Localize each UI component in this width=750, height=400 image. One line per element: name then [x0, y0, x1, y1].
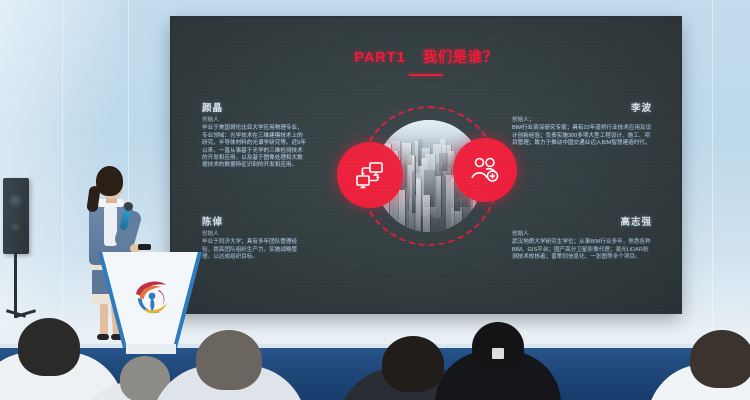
- audience-head: [196, 330, 262, 390]
- presenter-hair: [96, 166, 123, 196]
- presentation-clicker: [138, 244, 151, 250]
- podium: [98, 252, 202, 348]
- bio-body: 武汉地质大学研究生学位；从事BIM行业多年，熟悉各种BIM、GIS平台；国产高分…: [512, 239, 652, 261]
- bio-body: 毕业于美国哥伦比亚大学应用物理专业，专业领域：光学技术在三维建模技术上的研究，半…: [202, 125, 306, 169]
- screenshot-stage: PART1 我们是谁？ 颜晶 创始人 毕业于美国哥伦比亚大学应用物理专业，专业领…: [0, 0, 750, 400]
- bio-role: 创始人: [202, 231, 306, 238]
- bio-role: 创始人: [202, 117, 306, 124]
- slide-title: PART1 我们是谁？: [172, 46, 680, 67]
- stage-loudspeaker: [3, 178, 29, 254]
- cap-logo: [492, 348, 504, 359]
- wall-seam: [712, 0, 713, 330]
- add-user-group-icon: [470, 157, 500, 183]
- audience-head: [472, 322, 524, 372]
- bio-role: 创始人: [512, 231, 652, 238]
- bio-body: BIM行业资深研究专家；具有22年道桥行业技术应用及设计创新经验；负责实施300…: [512, 125, 652, 147]
- microphone-head: [124, 202, 133, 211]
- network-monitors-icon: [355, 161, 385, 189]
- presentation-screen: PART1 我们是谁？ 颜晶 创始人 毕业于美国哥伦比亚大学应用物理专业，专业领…: [172, 18, 680, 312]
- swirl-emblem-logo: [128, 276, 174, 320]
- bio-card-bottom-right: 高志强 创始人 武汉地质大学研究生学位；从事BIM行业多年，熟悉各种BIM、GI…: [512, 214, 652, 262]
- title-underline-rule: [409, 74, 443, 76]
- bio-name: 陈倬: [202, 214, 306, 228]
- bio-card-bottom-left: 陈倬 创始人 毕业于同济大学；具有多年团队管理经验，提高团队组织生产力，实施战略…: [202, 214, 306, 262]
- bio-name: 颜晶: [202, 100, 306, 114]
- bio-name: 李波: [512, 100, 652, 114]
- node-people-right[interactable]: [453, 138, 517, 202]
- speaker-stand-pole: [14, 252, 17, 318]
- bio-card-top-left: 颜晶 创始人 毕业于美国哥伦比亚大学应用物理专业，专业领域：光学技术在三维建模技…: [202, 100, 306, 170]
- bio-card-top-right: 李波 创始人； BIM行业资深研究专家；具有22年道桥行业技术应用及设计创新经验…: [512, 100, 652, 148]
- slide-title-part: PART1: [354, 50, 405, 66]
- audience-head: [690, 330, 750, 388]
- wall-seam: [62, 0, 63, 330]
- bio-body: 毕业于同济大学；具有多年团队管理经验，提高团队组织生产力，实施战略管理，以达成组…: [202, 239, 306, 261]
- audience-head: [382, 336, 444, 392]
- slide-title-text: 我们是谁？: [423, 50, 498, 66]
- speaker-cone-small: [10, 222, 22, 234]
- node-network-left[interactable]: [337, 142, 403, 208]
- audience-head: [18, 318, 80, 376]
- bio-role: 创始人；: [512, 117, 652, 124]
- podium-base: [126, 344, 176, 354]
- center-graphic: [337, 98, 517, 258]
- bio-name: 高志强: [512, 214, 652, 228]
- speaker-cone-large: [8, 194, 24, 210]
